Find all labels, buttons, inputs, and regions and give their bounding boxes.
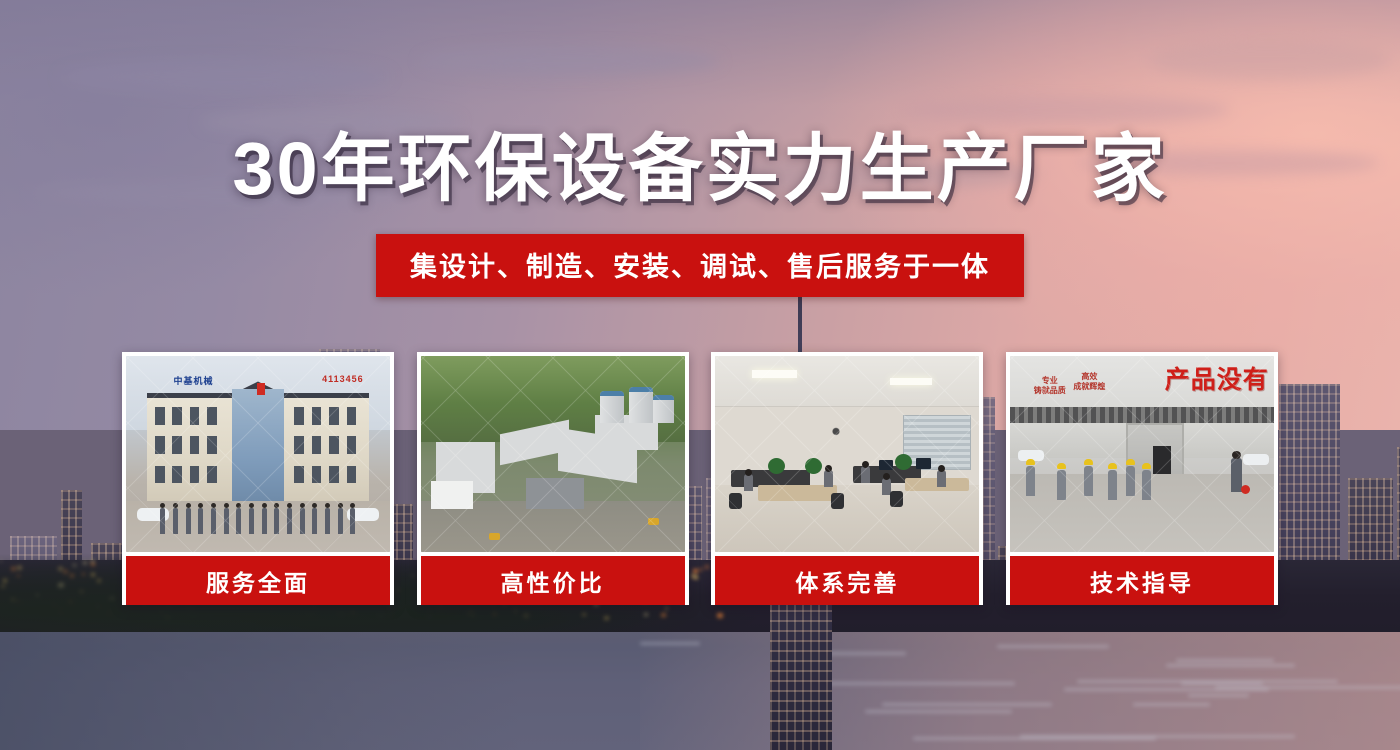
cloud-shape <box>60 60 390 94</box>
card-caption: 技术指导 <box>1010 556 1274 605</box>
watermark-overlay <box>126 356 390 552</box>
watermark-overlay <box>421 356 685 552</box>
water-reflection <box>640 642 700 645</box>
river-water-right-tint <box>640 632 1400 750</box>
feature-card-list: 中基机械 4113456 服务全面 <box>122 352 1278 605</box>
feature-card[interactable]: 产品没有 专业 铸就品质 高效 成就辉煌 <box>1006 352 1278 605</box>
watermark-overlay <box>715 356 979 552</box>
cloud-shape <box>900 96 1230 124</box>
feature-card[interactable]: 中基机械 4113456 服务全面 <box>122 352 394 605</box>
water-reflection <box>913 737 1156 740</box>
cloud-shape <box>1150 40 1390 80</box>
card-caption: 体系完善 <box>715 556 979 605</box>
water-reflection <box>1215 686 1400 689</box>
water-reflection <box>1188 694 1249 697</box>
promotional-banner: 30年环保设备实力生产厂家 集设计、制造、安装、调试、售后服务于一体 中基机械 … <box>0 0 1400 750</box>
company-building-staff-photo: 中基机械 4113456 <box>126 356 390 552</box>
office-interior-staff-photo <box>715 356 979 552</box>
page-title: 30年环保设备实力生产厂家 <box>0 132 1400 206</box>
water-reflection <box>865 710 1012 713</box>
subtitle-banner: 集设计、制造、安装、调试、售后服务于一体 <box>376 234 1024 297</box>
card-caption: 服务全面 <box>126 556 390 605</box>
water-reflection <box>882 703 1051 706</box>
cloud-shape <box>420 46 720 76</box>
river-water-left-tint <box>0 632 520 750</box>
water-reflection <box>1077 680 1338 683</box>
feature-card[interactable]: 体系完善 <box>711 352 983 605</box>
aerial-production-plant-photo <box>421 356 685 552</box>
watermark-overlay <box>1010 356 1274 552</box>
water-reflection <box>823 682 1015 685</box>
feature-card[interactable]: 高性价比 <box>417 352 689 605</box>
water-reflection <box>1133 703 1210 706</box>
water-reflection <box>1176 659 1274 662</box>
factory-yard-workers-photo: 产品没有 专业 铸就品质 高效 成就辉煌 <box>1010 356 1274 552</box>
water-reflection <box>997 645 1109 648</box>
water-reflection <box>1166 664 1296 667</box>
card-caption: 高性价比 <box>421 556 685 605</box>
